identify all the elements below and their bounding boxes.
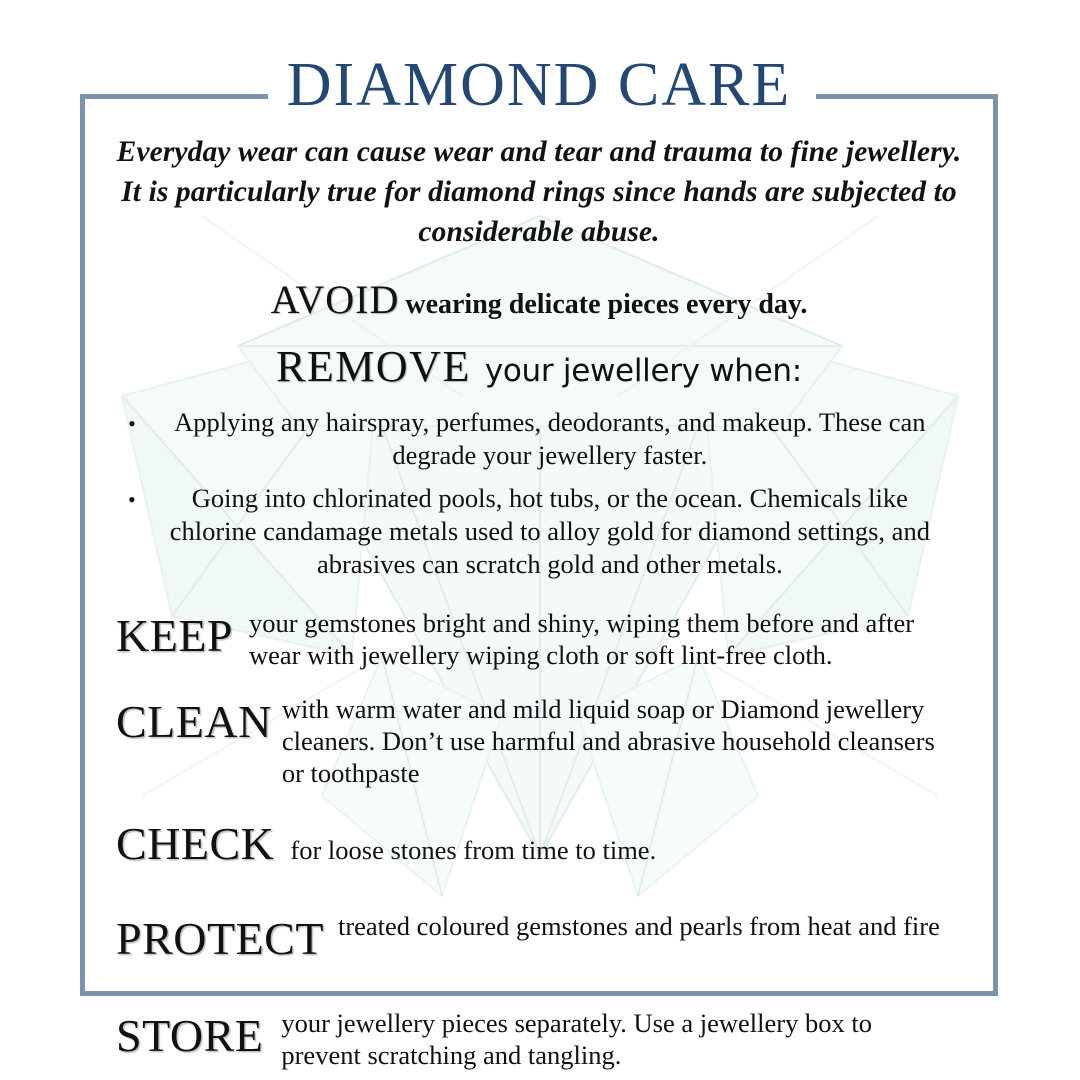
protect-text: treated coloured gemstones and pearls fr… — [338, 910, 958, 942]
remove-section: REMOVEyour jewellery when: — [94, 341, 984, 392]
page-title: DIAMOND CARE — [80, 52, 998, 118]
store-keyword: STORE — [116, 1009, 263, 1062]
list-item-text: Applying any hairspray, perfumes, deodor… — [150, 406, 950, 472]
remove-text: your jewellery when: — [485, 353, 802, 389]
remove-keyword: REMOVE — [276, 342, 471, 391]
keep-section: KEEP your gemstones bright and shiny, wi… — [94, 607, 984, 671]
bullet-icon: • — [128, 406, 136, 440]
keep-text: your gemstones bright and shiny, wiping … — [249, 607, 958, 671]
protect-keyword: PROTECT — [116, 912, 324, 965]
keep-keyword: KEEP — [116, 609, 233, 662]
list-item-text: Going into chlorinated pools, hot tubs, … — [150, 482, 950, 581]
list-item: • Going into chlorinated pools, hot tubs… — [128, 482, 950, 581]
check-text: for loose stones from time to time. — [290, 830, 958, 866]
poster-content: DIAMOND CARE Everyday wear can cause wea… — [80, 94, 998, 996]
check-keyword: CHECK — [116, 817, 274, 870]
intro-paragraph: Everyday wear can cause wear and tear an… — [94, 132, 984, 252]
check-section: CHECK for loose stones from time to time… — [94, 817, 984, 870]
protect-section: PROTECT treated coloured gemstones and p… — [94, 910, 984, 965]
avoid-keyword: AVOID — [271, 277, 400, 322]
clean-text: with warm water and mild liquid soap or … — [282, 693, 958, 789]
clean-keyword: CLEAN — [116, 695, 272, 748]
clean-section: CLEAN with warm water and mild liquid so… — [94, 693, 984, 789]
store-text: your jewellery pieces separately. Use a … — [281, 1007, 958, 1071]
bullet-icon: • — [128, 482, 136, 516]
avoid-text: wearing delicate pieces every day. — [405, 289, 807, 320]
store-section: STORE your jewellery pieces separately. … — [94, 1007, 984, 1071]
avoid-section: AVOIDwearing delicate pieces every day. — [94, 276, 984, 323]
remove-bullet-list: • Applying any hairspray, perfumes, deod… — [94, 406, 984, 581]
list-item: • Applying any hairspray, perfumes, deod… — [128, 406, 950, 472]
diamond-care-poster: DIAMOND CARE Everyday wear can cause wea… — [0, 0, 1080, 1080]
